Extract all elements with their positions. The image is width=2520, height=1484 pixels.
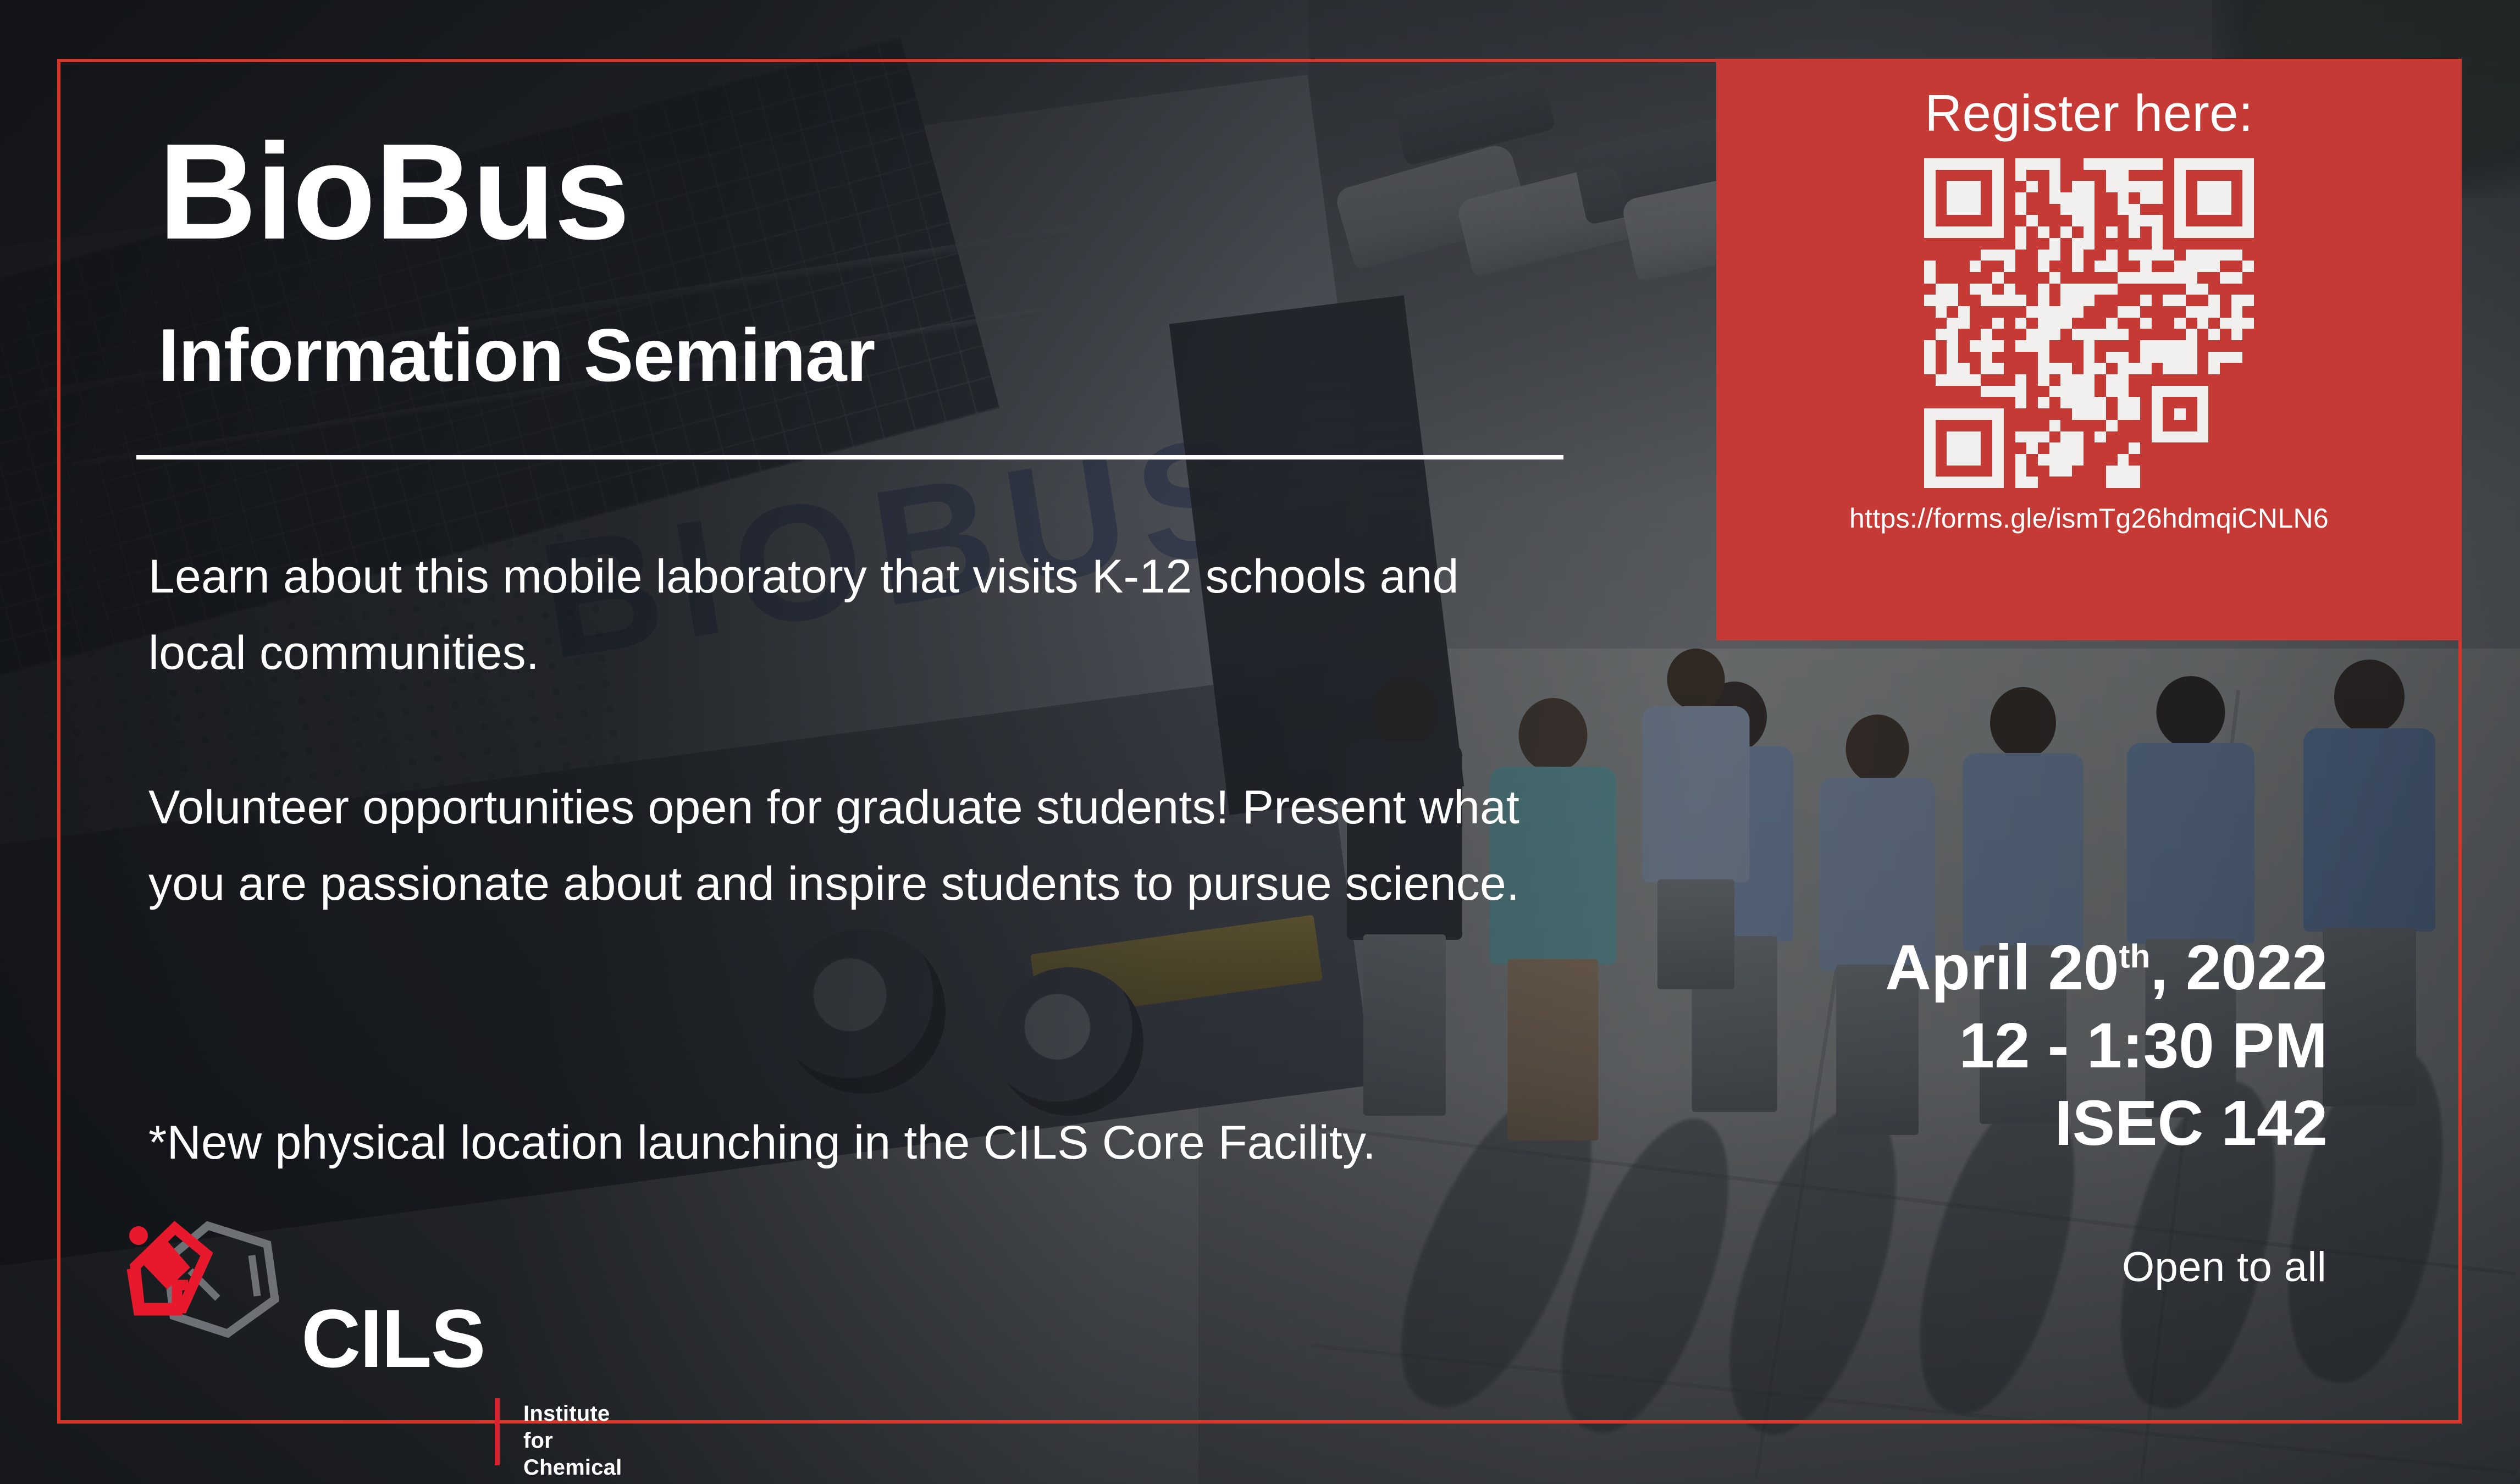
logo-divider <box>495 1398 500 1465</box>
qr-code[interactable] <box>1924 158 2254 488</box>
cils-tagline-line-1: Institute for <box>523 1400 622 1454</box>
poster-canvas: BIOBUS <box>0 0 2520 1484</box>
register-heading: Register here: <box>1925 84 2253 143</box>
event-details: April 20th, 2022 12 - 1:30 PM ISEC 142 <box>1885 929 2328 1162</box>
register-panel: Register here: https://forms.gle/ismTg26… <box>1716 60 2462 640</box>
cils-tagline-line-2: Chemical Imaging <box>523 1454 622 1484</box>
event-time: 12 - 1:30 PM <box>1885 1007 2328 1085</box>
body-paragraph-1: Learn about this mobile laboratory that … <box>148 539 1556 692</box>
event-date-year: , 2022 <box>2150 932 2328 1003</box>
page-subtitle: Information Seminar <box>158 318 875 392</box>
event-date-text: April 20 <box>1885 932 2119 1003</box>
register-url[interactable]: https://forms.gle/ismTg26hdmqiCNLN6 <box>1849 502 2329 534</box>
cils-logo: CILS Institute for Chemical Imaging of L… <box>110 1216 594 1397</box>
event-audience: Open to all <box>2122 1243 2326 1291</box>
event-date-ordinal: th <box>2119 937 2151 974</box>
event-date: April 20th, 2022 <box>1885 929 2328 1007</box>
body-paragraph-3: *New physical location launching in the … <box>148 1105 1688 1181</box>
page-title: BioBus <box>158 123 629 259</box>
molecule-microscope-icon <box>110 1216 286 1392</box>
body-paragraph-2: Volunteer opportunities open for graduat… <box>148 769 1589 923</box>
cils-wordmark: CILS <box>301 1297 485 1380</box>
cils-tagline: Institute for Chemical Imaging of Living… <box>523 1400 622 1484</box>
title-divider <box>136 455 1563 459</box>
event-location: ISEC 142 <box>1885 1084 2328 1162</box>
